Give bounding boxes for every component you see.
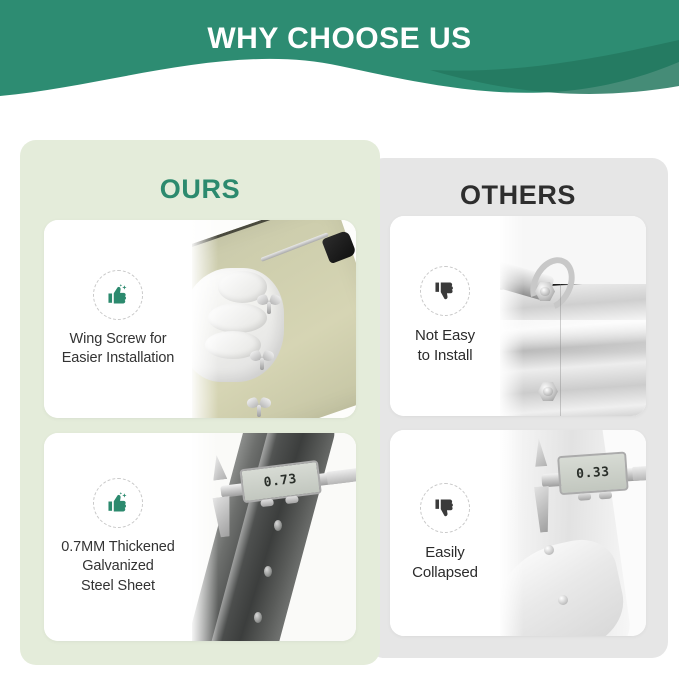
ours-card-wing-screw[interactable]: Wing Screw for Easier Installation <box>44 220 356 418</box>
ours-panel: OURS Wing Screw for Easier Installation <box>20 140 380 665</box>
ours-card-2-text-block: 0.7MM Thickened Galvanized Steel Sheet <box>44 433 192 641</box>
others-heading: OTHERS <box>368 180 668 211</box>
others-card-easily-collapsed[interactable]: Easily Collapsed 0.33 <box>390 430 646 636</box>
others-card-2-label: Easily Collapsed <box>412 543 478 583</box>
page-title: WHY CHOOSE US <box>0 22 679 56</box>
wrench-on-bolt-photo <box>500 216 646 416</box>
caliper-white-panel-photo: 0.33 <box>500 430 646 636</box>
header-banner: WHY CHOOSE US <box>0 0 679 108</box>
ours-heading: OURS <box>20 174 380 205</box>
caliper-steel-channel-photo: 0.73 <box>192 433 356 641</box>
others-caliper-reading: 0.33 <box>576 464 610 481</box>
ours-card-thickened-steel[interactable]: 0.7MM Thickened Galvanized Steel Sheet <box>44 433 356 641</box>
thumbs-up-icon <box>93 270 143 320</box>
comparison-infographic: WHY CHOOSE US OTHERS Not Easy to Install <box>0 0 679 679</box>
others-card-not-easy-to-install[interactable]: Not Easy to Install <box>390 216 646 416</box>
ours-card-2-label: 0.7MM Thickened Galvanized Steel Sheet <box>61 538 174 595</box>
others-panel: OTHERS Not Easy to Install <box>368 158 668 658</box>
others-card-1-label: Not Easy to Install <box>415 326 475 366</box>
ours-card-1-label: Wing Screw for Easier Installation <box>62 330 175 368</box>
thumbs-down-icon <box>420 266 470 316</box>
thumbs-down-icon <box>420 483 470 533</box>
ours-caliper-reading: 0.73 <box>262 472 297 491</box>
others-card-2-text-block: Easily Collapsed <box>390 430 500 636</box>
wing-screw-install-photo <box>192 220 356 418</box>
thumbs-up-icon <box>93 478 143 528</box>
others-card-1-text-block: Not Easy to Install <box>390 216 500 416</box>
ours-card-1-text-block: Wing Screw for Easier Installation <box>44 220 192 418</box>
